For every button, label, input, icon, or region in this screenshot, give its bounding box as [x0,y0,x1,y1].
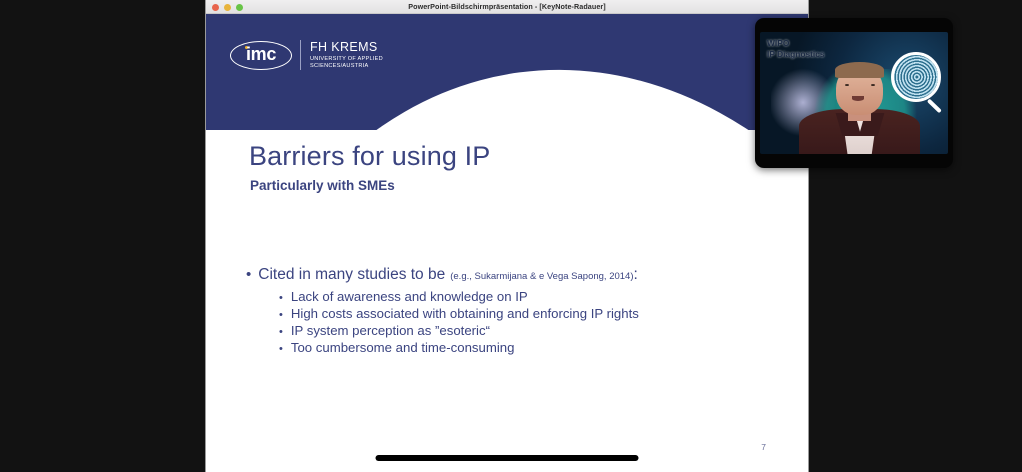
imc-fh-krems-logo: imc FH KREMS UNIVERSITY OF APPLIED SCIEN… [230,40,383,70]
list-item: • High costs associated with obtaining a… [279,306,639,321]
sub-bullet-text: High costs associated with obtaining and… [291,306,639,321]
primary-bullet: • Cited in many studies to be (e.g., Suk… [246,266,639,284]
header-curve-shape [206,19,808,130]
powerpoint-window: PowerPoint-Bildschirmpräsentation - [Key… [205,0,809,472]
maximize-button[interactable] [236,4,243,11]
list-item: • IP system perception as ”esoteric“ [279,323,639,338]
institution-line-3: SCIENCES/AUSTRIA [310,63,383,69]
sub-bullet-marker-icon: • [279,343,283,355]
slide-title: Barriers for using IP [249,141,490,172]
sub-bullet-marker-icon: • [279,309,283,321]
institution-line-2: UNIVERSITY OF APPLIED [310,56,383,62]
magnifier-handle [927,99,942,113]
window-titlebar[interactable]: PowerPoint-Bildschirmpräsentation - [Key… [206,0,808,14]
presenter-eye-right [871,84,875,86]
citation-text: (e.g., Sukarmijana & e Vega Sapong, 2014… [450,271,633,282]
minimize-button[interactable] [224,4,231,11]
window-traffic-lights [212,4,243,11]
presenter-eye-left [845,84,849,86]
bullet-colon: : [634,266,638,284]
imc-logo-oval: imc [230,41,292,70]
logo-divider [300,40,301,70]
webcam-overlay-panel[interactable]: WIPO IP Diagnostics [755,18,953,168]
slide-header-band [206,14,808,130]
sub-bullet-text: Lack of awareness and knowledge on IP [291,289,528,304]
sub-bullet-list: • Lack of awareness and knowledge on IP … [246,289,639,355]
home-indicator-bar [376,455,639,461]
slide-body: • Cited in many studies to be (e.g., Suk… [246,266,639,357]
sub-bullet-text: IP system perception as ”esoteric“ [291,323,490,338]
desktop-background: PowerPoint-Bildschirmpräsentation - [Key… [0,0,1022,472]
webcam-caption-line-1: WIPO [767,38,825,49]
list-item: • Lack of awareness and knowledge on IP [279,289,639,304]
primary-bullet-text: Cited in many studies to be [258,266,445,284]
sub-bullet-marker-icon: • [279,326,283,338]
webcam-video-feed: WIPO IP Diagnostics [760,32,948,154]
sub-bullet-text: Too cumbersome and time-consuming [291,340,515,355]
list-item: • Too cumbersome and time-consuming [279,340,639,355]
institution-name: FH KREMS UNIVERSITY OF APPLIED SCIENCES/… [310,41,383,68]
imc-logo-text: imc [246,45,276,63]
slide-subtitle: Particularly with SMEs [250,178,395,193]
slide-number: 7 [761,442,766,452]
sub-bullet-marker-icon: • [279,292,283,304]
window-title: PowerPoint-Bildschirmpräsentation - [Key… [206,2,808,11]
slide-canvas: imc FH KREMS UNIVERSITY OF APPLIED SCIEN… [206,14,808,472]
presenter-hair [835,62,884,78]
close-button[interactable] [212,4,219,11]
bullet-marker-icon: • [246,266,251,283]
presenter-figure [813,56,907,154]
institution-line-1: FH KREMS [310,41,383,55]
